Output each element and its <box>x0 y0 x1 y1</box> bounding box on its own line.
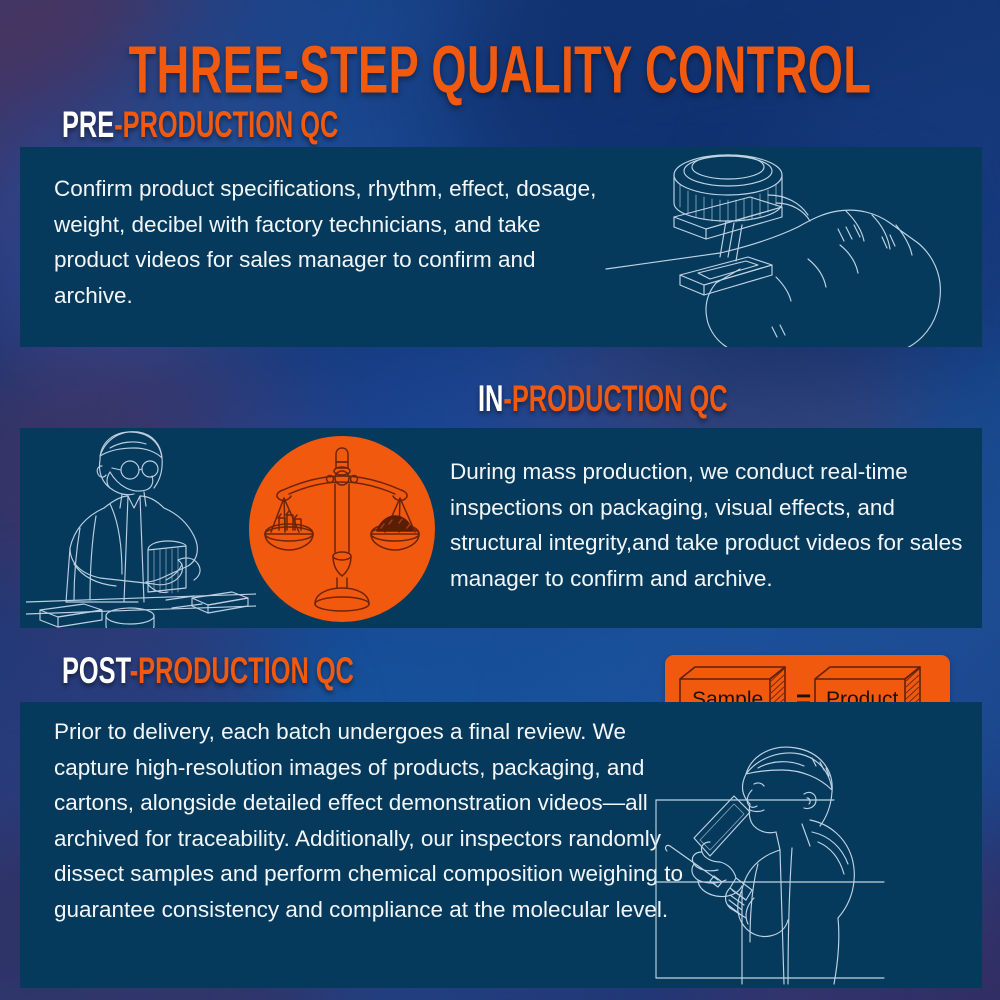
panel-in-production: During mass production, we conduct real-… <box>20 428 982 628</box>
section-heading-pre-production-white: PRE <box>62 104 114 145</box>
panel-pre-production-body: Confirm product specifications, rhythm, … <box>54 171 614 313</box>
section-heading-in-production-orange: -PRODUCTION QC <box>503 378 727 419</box>
infographic-page: THREE-STEP QUALITY CONTROL PRE-PRODUCTIO… <box>0 0 1000 1000</box>
page-title: THREE-STEP QUALITY CONTROL <box>20 30 980 108</box>
section-heading-in-production-white: IN <box>478 378 503 419</box>
section-heading-pre-production: PRE-PRODUCTION QC <box>62 104 338 147</box>
section-heading-post-production-white: POST <box>62 650 130 691</box>
section-heading-post-production-orange: -PRODUCTION QC <box>130 650 354 691</box>
panel-post-production: Prior to delivery, each batch undergoes … <box>20 702 982 988</box>
section-heading-in-production: IN-PRODUCTION QC <box>478 378 728 421</box>
worker-inspecting-products-sketch-icon <box>26 428 256 628</box>
inspector-with-tablet-sketch-icon <box>634 738 964 988</box>
balance-scale-icon <box>249 436 435 622</box>
balance-scale-badge <box>249 436 435 622</box>
section-heading-post-production: POST-PRODUCTION QC <box>62 650 354 693</box>
hand-holding-product-sketch-icon <box>600 147 982 347</box>
section-heading-pre-production-orange: -PRODUCTION QC <box>114 104 338 145</box>
panel-in-production-body: During mass production, we conduct real-… <box>450 454 982 596</box>
panel-post-production-body: Prior to delivery, each batch undergoes … <box>54 714 684 927</box>
panel-pre-production: Confirm product specifications, rhythm, … <box>20 147 982 347</box>
